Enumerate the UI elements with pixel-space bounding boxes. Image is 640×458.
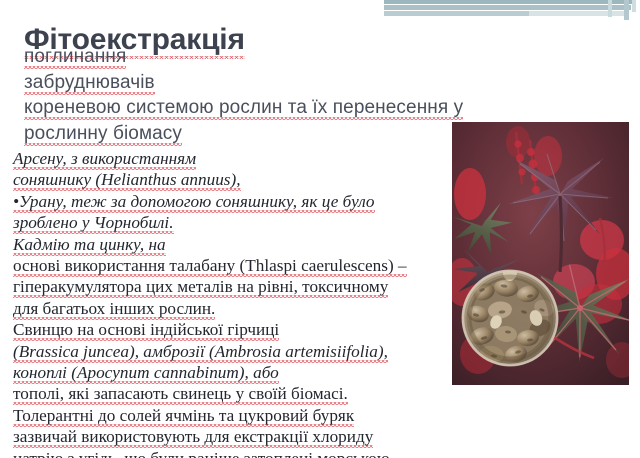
paragraph-arsenic: Арсену, з використанням соняшнику (Helia… xyxy=(13,148,445,191)
paragraph-salt-tolerant-line-2: зазвичай використовують для екстракції х… xyxy=(13,426,445,447)
slide-subtitle: поглинання забруднювачів кореневою систе… xyxy=(24,44,454,146)
subtitle-line-1-text: поглинання xyxy=(24,46,126,69)
paragraph-salt-tolerant-line-3-text: натрію з угідь, що були раніше затоплені… xyxy=(13,449,390,458)
subtitle-line-1: поглинання xyxy=(24,44,454,70)
paragraph-cadmium-zinc-line-4: для багатьох інших рослин. xyxy=(13,298,445,319)
paragraph-uranium-line-1-text: •Урану, теж за допомогою соняшнику, як ц… xyxy=(13,192,375,213)
subtitle-line-2: забруднювачів xyxy=(24,70,454,96)
deco-bar-1 xyxy=(384,0,636,4)
paragraph-arsenic-line-2-text: соняшнику (Helianthus annuus), xyxy=(13,170,241,191)
slide-body-text: Арсену, з використанням соняшнику (Helia… xyxy=(13,148,445,458)
paragraph-uranium-line-2-text: зроблено у Чорнобилі. xyxy=(13,213,174,234)
paragraph-lead-line-4-text: тополі, які запасають свинець у своїй бі… xyxy=(13,384,348,405)
subtitle-line-3-text: кореневою системою рослин та їх перенесе… xyxy=(24,97,463,120)
paragraph-uranium-line-1: •Урану, теж за допомогою соняшнику, як ц… xyxy=(13,191,445,212)
paragraph-cadmium-zinc-line-2-text: основі використання талабану (Thlaspi ca… xyxy=(13,256,407,277)
castor-bean-plant-photo xyxy=(452,122,629,385)
paragraph-salt-tolerant-line-2-text: зазвичай використовують для екстракції х… xyxy=(13,427,373,448)
paragraph-uranium: •Урану, теж за допомогою соняшнику, як ц… xyxy=(13,191,445,234)
deco-bar-7 xyxy=(632,0,636,12)
subtitle-line-4-text: рослинну біомасу xyxy=(24,123,182,146)
paragraph-salt-tolerant: Толерантні до солей ячмінь та цукровий б… xyxy=(13,405,445,458)
subtitle-line-4: рослинну біомасу xyxy=(24,121,454,147)
paragraph-lead-line-4: тополі, які запасають свинець у своїй бі… xyxy=(13,383,445,404)
deco-bar-3 xyxy=(384,11,529,16)
decorative-header-bars xyxy=(0,0,640,24)
paragraph-cadmium-zinc: Кадмію та цинку, на основі використання … xyxy=(13,234,445,320)
paragraph-cadmium-zinc-line-4-text: для багатьох інших рослин. xyxy=(13,299,215,320)
paragraph-salt-tolerant-line-3: натрію з угідь, що були раніше затоплені… xyxy=(13,448,445,458)
paragraph-cadmium-zinc-line-1-text: Кадмію та цинку, на xyxy=(13,235,166,256)
deco-bar-6 xyxy=(624,0,629,20)
castor-bean-plant-illustration xyxy=(452,122,629,385)
deco-bar-5 xyxy=(608,0,612,17)
paragraph-uranium-line-2: зроблено у Чорнобилі. xyxy=(13,212,445,233)
paragraph-salt-tolerant-line-1-text: Толерантні до солей ячмінь та цукровий б… xyxy=(13,406,354,427)
subtitle-line-3: кореневою системою рослин та їх перенесе… xyxy=(24,95,454,121)
paragraph-lead-line-1-text: Свинцю на основі індійської гірчиці xyxy=(13,320,279,341)
paragraph-arsenic-line-1: Арсену, з використанням xyxy=(13,148,445,169)
paragraph-lead-line-3-text: коноплі (Apocynum cannabinum), або xyxy=(13,363,279,384)
paragraph-salt-tolerant-line-1: Толерантні до солей ячмінь та цукровий б… xyxy=(13,405,445,426)
paragraph-arsenic-line-1-text: Арсену, з використанням xyxy=(13,149,196,170)
paragraph-cadmium-zinc-line-2: основі використання талабану (Thlaspi ca… xyxy=(13,255,445,276)
paragraph-cadmium-zinc-line-3-text: гіперакумулятора цих металів на рівні, т… xyxy=(13,277,388,298)
deco-bar-2 xyxy=(384,5,631,10)
paragraph-lead-line-3: коноплі (Apocynum cannabinum), або xyxy=(13,362,445,383)
paragraph-lead: Свинцю на основі індійської гірчиці (Bra… xyxy=(13,319,445,405)
paragraph-lead-line-2-text: (Brassica juncea), амброзії (Ambrosia ar… xyxy=(13,342,388,363)
paragraph-arsenic-line-2: соняшнику (Helianthus annuus), xyxy=(13,169,445,190)
paragraph-cadmium-zinc-line-1: Кадмію та цинку, на xyxy=(13,234,445,255)
slide-canvas: Фітоекстракція поглинання забруднювачів … xyxy=(0,0,640,458)
paragraph-cadmium-zinc-line-3: гіперакумулятора цих металів на рівні, т… xyxy=(13,276,445,297)
paragraph-lead-line-2: (Brassica juncea), амброзії (Ambrosia ar… xyxy=(13,341,445,362)
paragraph-lead-line-1: Свинцю на основі індійської гірчиці xyxy=(13,319,445,340)
deco-bar-4 xyxy=(529,11,629,16)
subtitle-line-2-text: забруднювачів xyxy=(24,72,155,95)
